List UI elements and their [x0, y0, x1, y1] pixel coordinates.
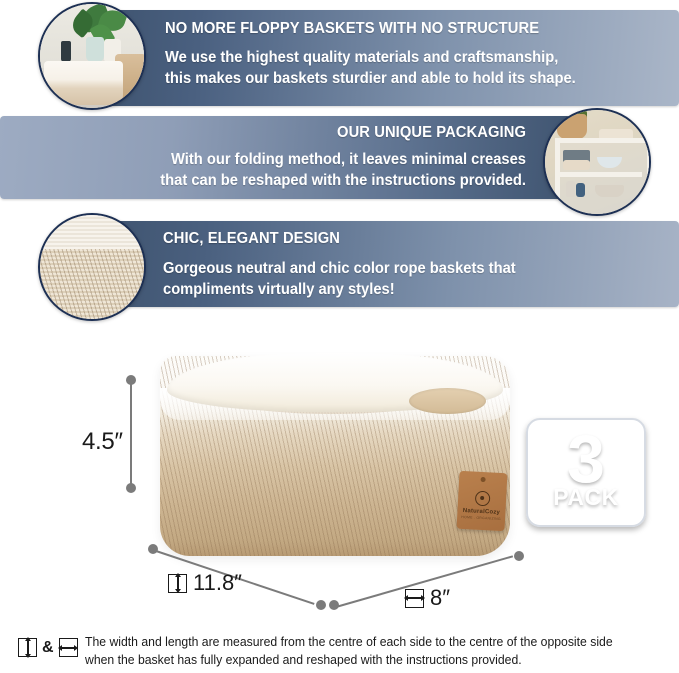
banner-body-line2-1: this makes our baskets sturdier and able…: [165, 69, 640, 90]
banner-heading-3: CHIC, ELEGANT DESIGN: [163, 230, 638, 247]
brand-logo-icon: [474, 490, 490, 506]
pack-count-badge: 3 PACK: [526, 418, 646, 527]
banner-body-line1-1: We use the highest quality materials and…: [165, 48, 640, 69]
footnote-icon-group: &: [18, 634, 78, 657]
banner-body-line1-2: With our folding method, it leaves minim…: [83, 150, 526, 171]
pack-count-word: PACK: [553, 486, 618, 509]
footnote-text-block: The width and length are measured from t…: [85, 634, 629, 670]
dimension-width-value: 8″: [430, 585, 450, 611]
thumbnail-art-3: [40, 215, 144, 319]
measurement-footnote: & The width and length are measured from…: [18, 634, 668, 670]
banner-body-line2-3: compliments virtually any styles!: [163, 280, 638, 301]
infographic-canvas: NO MORE FLOPPY BASKETS WITH NO STRUCTURE…: [0, 0, 679, 673]
footnote-line2: when the basket has fully expanded and r…: [85, 652, 613, 670]
height-arrow-icon: [18, 638, 37, 657]
dimension-label-length: 11.8″: [168, 570, 242, 596]
pack-count-number: 3: [567, 432, 605, 488]
dimension-label-width: 8″: [405, 585, 450, 611]
brand-hang-tag: NaturalCozy HOME . ORGANIZING: [457, 471, 508, 531]
thumbnail-white-shelf: [543, 108, 651, 216]
height-arrow-icon: [168, 574, 187, 593]
banner-body-line1-3: Gorgeous neutral and chic color rope bas…: [163, 259, 638, 280]
footnote-separator: &: [42, 639, 54, 657]
dimension-label-height: 4.5″: [82, 428, 123, 456]
footnote-line1: The width and length are measured from t…: [85, 634, 613, 652]
dimension-length-value: 11.8″: [193, 570, 242, 596]
thumbnail-rope-texture: [38, 213, 146, 321]
guide-line-height: [130, 380, 133, 486]
thumbnail-basket-with-plants: [38, 2, 146, 110]
brand-tagline: HOME . ORGANIZING: [461, 514, 501, 520]
tag-hole-icon: [480, 477, 485, 482]
guide-dot-length-right: [316, 600, 326, 610]
thumbnail-art-1: [40, 4, 144, 108]
banner-heading-1: NO MORE FLOPPY BASKETS WITH NO STRUCTURE: [165, 20, 640, 37]
thumbnail-art-2: [545, 110, 649, 214]
banner-heading-2: OUR UNIQUE PACKAGING: [83, 124, 526, 141]
guide-dot-width-right: [514, 551, 524, 561]
width-arrow-icon: [59, 638, 78, 657]
banner-body-line2-2: that can be reshaped with the instructio…: [83, 171, 526, 192]
width-arrow-icon: [405, 589, 424, 608]
